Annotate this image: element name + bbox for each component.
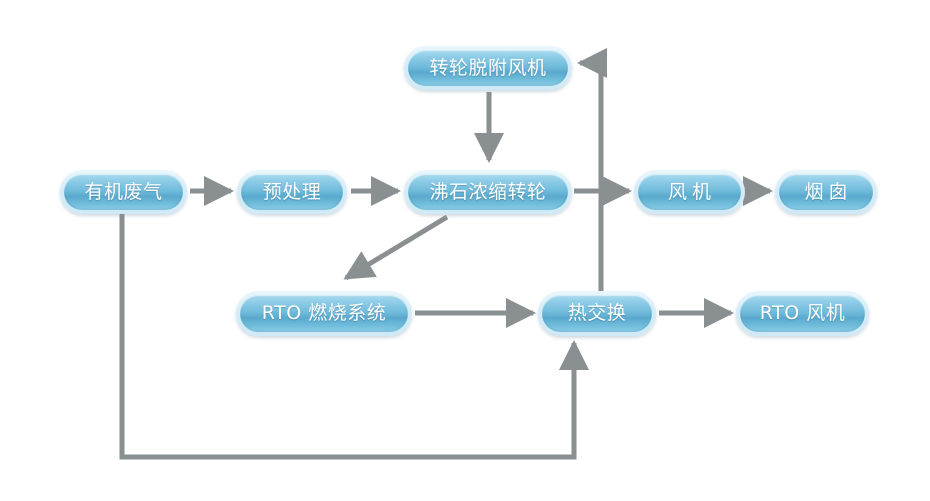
node-organic-waste-gas[interactable]: 有机废气 xyxy=(60,170,187,214)
node-body: 烟囱 xyxy=(779,174,873,210)
node-body: 风机 xyxy=(638,174,741,210)
node-label: 沸石浓缩转轮 xyxy=(429,183,546,202)
node-label: 有机废气 xyxy=(84,183,162,202)
node-label: RTO 风机 xyxy=(760,304,845,323)
node-heat-exchange[interactable]: 热交换 xyxy=(538,291,656,336)
node-label: 风机 xyxy=(663,183,716,202)
node-body: RTO 风机 xyxy=(740,295,865,332)
node-body: 沸石浓缩转轮 xyxy=(408,174,568,210)
node-label: RTO 燃烧系统 xyxy=(262,304,386,323)
node-body: RTO 燃烧系统 xyxy=(240,295,408,332)
node-body: 转轮脱附风机 xyxy=(408,50,568,86)
node-rto-fan[interactable]: RTO 风机 xyxy=(736,291,869,336)
node-body: 预处理 xyxy=(241,174,343,210)
node-desorption-fan[interactable]: 转轮脱附风机 xyxy=(404,46,572,90)
node-label: 转轮脱附风机 xyxy=(429,59,546,78)
node-chimney[interactable]: 烟囱 xyxy=(775,170,877,214)
node-rto-combustion[interactable]: RTO 燃烧系统 xyxy=(236,291,412,336)
node-body: 有机废气 xyxy=(64,174,183,210)
node-body: 热交换 xyxy=(542,295,652,332)
connector-heat-exchange-to-desorption-fan xyxy=(580,63,601,291)
node-fan[interactable]: 风机 xyxy=(634,170,745,214)
node-label: 烟囱 xyxy=(799,183,852,202)
node-label: 热交换 xyxy=(568,304,627,323)
node-zeolite-rotor[interactable]: 沸石浓缩转轮 xyxy=(404,170,572,214)
connector-zeolite-rotor-to-rto-combustion xyxy=(346,217,447,278)
flowchart-canvas: 有机废气 预处理 沸石浓缩转轮 转轮脱附风机 风机 烟囱 RTO 燃烧系统 热 xyxy=(0,0,930,501)
node-label: 预处理 xyxy=(263,183,322,202)
node-pretreatment[interactable]: 预处理 xyxy=(237,170,347,214)
